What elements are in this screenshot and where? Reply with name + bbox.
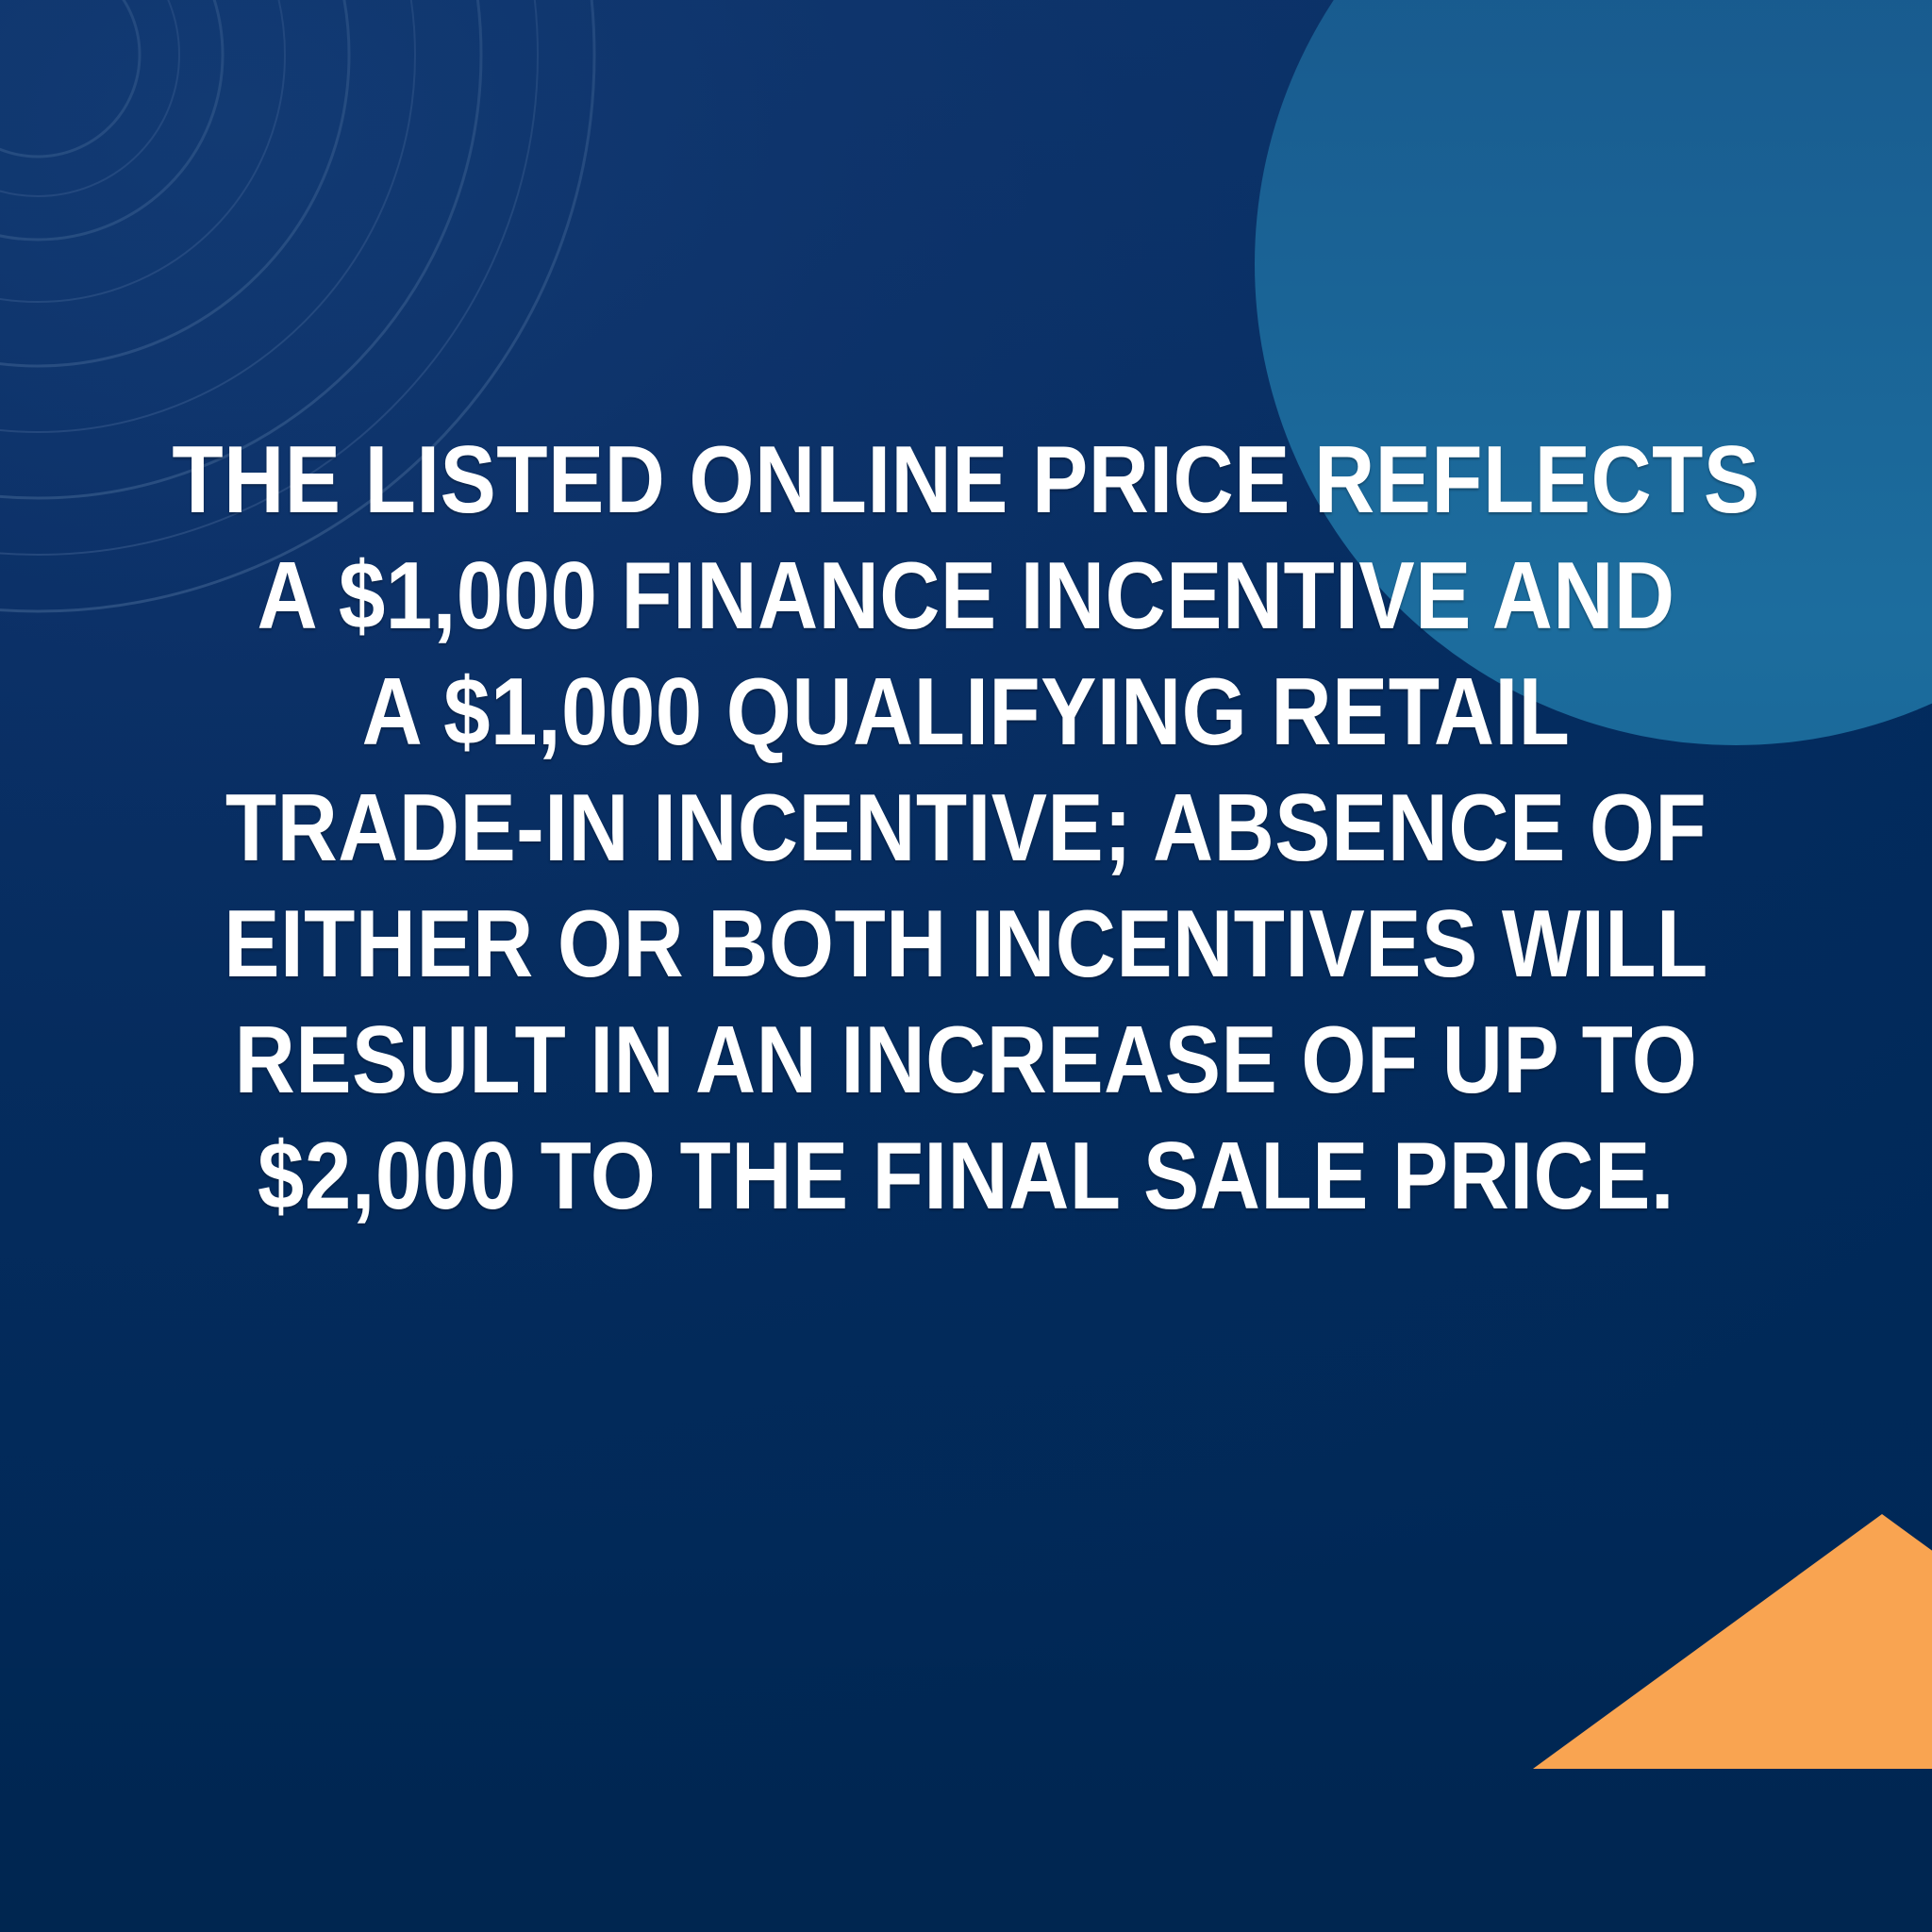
orange-triangle-shape xyxy=(1533,1514,1932,1769)
headline-line-2: A $1,000 FINANCE INCENTIVE AND xyxy=(116,539,1816,655)
orange-triangle-decoration xyxy=(1533,1514,1932,1769)
disclaimer-headline: THE LISTED ONLINE PRICE REFLECTS A $1,00… xyxy=(116,423,1816,1235)
headline-line-3: A $1,000 QUALIFYING RETAIL xyxy=(116,655,1816,771)
headline-line-5: EITHER OR BOTH INCENTIVES WILL xyxy=(116,887,1816,1003)
headline-line-7: $2,000 TO THE FINAL SALE PRICE. xyxy=(116,1119,1816,1235)
headline-line-4: TRADE-IN INCENTIVE; ABSENCE OF xyxy=(116,771,1816,887)
disclaimer-slide: THE LISTED ONLINE PRICE REFLECTS A $1,00… xyxy=(0,0,1932,1932)
headline-line-1: THE LISTED ONLINE PRICE REFLECTS xyxy=(116,423,1816,539)
headline-line-6: RESULT IN AN INCREASE OF UP TO xyxy=(116,1003,1816,1119)
